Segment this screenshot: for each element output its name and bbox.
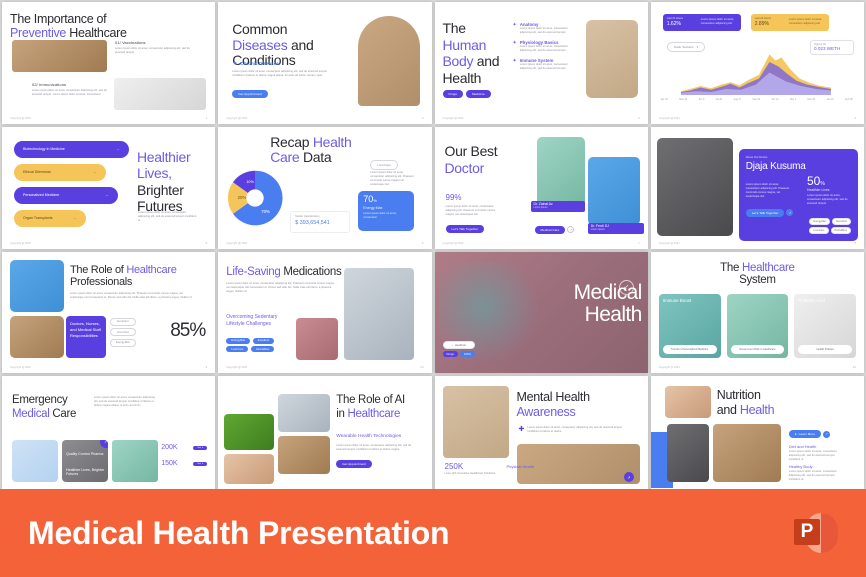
slide-image <box>443 386 509 458</box>
stat-value: 85% <box>170 320 205 342</box>
slide-healthcare-system[interactable]: The Healthcare System Immune Boost Trend… <box>651 252 864 374</box>
slide-number: 5 <box>206 241 208 245</box>
stat-body: Lorem ipsum dolor sit amet, consectetur <box>363 212 409 220</box>
stat-value: 50 <box>807 174 820 188</box>
card-label: Immune Boost <box>663 298 691 304</box>
donut-chart: 70% 20% 10% <box>224 167 286 229</box>
ppt-letter: P <box>794 519 820 545</box>
card-label: Probiotic Acid <box>798 298 825 304</box>
slide-doctor-profile[interactable]: About Our Doctor Djaja Kusuma Lorem ipsu… <box>651 127 864 249</box>
slide-footer-note: Copyright @ 2024 <box>10 366 31 369</box>
slide-healthcare-professionals[interactable]: The Role of Healthcare Professionals Lor… <box>2 252 215 374</box>
tag[interactable]: LiverCare <box>226 346 248 352</box>
item-body: Lorem ipsum dolor sit amet, consectetur … <box>789 470 847 482</box>
slide-number: 7 <box>638 241 640 245</box>
card-caption[interactable]: Government Role in Healthcare <box>731 345 785 354</box>
slide-mental-health-awareness[interactable]: Mental Health Awareness ✚ Lorem ipsum do… <box>435 376 648 498</box>
tag[interactable]: HerbalMax <box>251 346 274 352</box>
item-label: 02/ Immunizations <box>32 82 110 87</box>
stat-card-amber: Last 24 Hours 2.89% Lorem ipsum dolor si… <box>751 14 829 31</box>
arrow-left-icon: ← <box>105 193 109 197</box>
dot-icon: ● <box>795 432 797 436</box>
cta-button[interactable]: Let's Talk Together <box>746 209 785 217</box>
body-text: Lorem ipsum dolor sit amet, consectetur … <box>336 444 420 452</box>
slide-footer-note: Copyright @ 2024 <box>443 242 464 245</box>
body-text: Lorem ipsum dolor sit amet, consectetur … <box>94 396 156 408</box>
banner-title: Medical Health Presentation <box>28 515 449 552</box>
stat-value: 150K <box>161 460 177 467</box>
stat-card-violet: Last 24 Hours 1.62% Lorem ipsum dolor si… <box>663 14 741 31</box>
arrow-left-icon: ← <box>93 170 97 174</box>
arrow-left-icon: ← <box>73 216 77 220</box>
chevron-down-icon: ▾ <box>697 45 699 49</box>
tag[interactable]: Excellent <box>832 218 851 225</box>
stat-body: Lorem ipsum dolor sit amet, consectetur … <box>807 194 851 206</box>
page-title: The Importance of Preventive Healthcare <box>10 12 207 40</box>
doctor-photo-2 <box>588 157 640 225</box>
list-item: ✦ Anatomy Lorem ipsum dolor sit amet, co… <box>513 22 575 35</box>
body-text: Lorem ipsum dolor sit amet, consectetur … <box>370 171 414 187</box>
title-banner: Medical Health Presentation P <box>0 489 866 577</box>
card-caption[interactable]: Trends in Personalized Medicine <box>663 345 717 354</box>
plus-icon: ✚ <box>519 426 525 434</box>
learn-more-button[interactable]: ●Learn More <box>789 430 821 438</box>
slide-image <box>296 318 338 360</box>
slide-image <box>10 260 64 312</box>
slide-image <box>278 394 330 432</box>
slide-number: 2 <box>422 116 424 120</box>
slide-footer-note: Copyright @ 2024 <box>10 242 31 245</box>
stat-label: Healthier Lives <box>807 188 851 192</box>
slide-footer-note: Copyright @ 2024 <box>226 366 247 369</box>
page-title: Nutrition and Health <box>717 388 827 418</box>
slide-number: 8 <box>854 241 856 245</box>
arrow-down-left-icon[interactable]: ↙ <box>619 280 634 295</box>
page-title: Recap Health Care Data <box>270 135 380 166</box>
slide-image <box>224 414 274 450</box>
body-text: Lorem ipsum dolor sit amet, consectetur … <box>446 205 504 217</box>
dot-icon: ● <box>451 344 453 347</box>
system-card-1[interactable]: Immune Boost Trends in Personalized Medi… <box>659 294 721 358</box>
page-title: The Role of AI in Healthcare <box>336 394 422 422</box>
doctor-photo-1 <box>537 137 585 209</box>
diamond-icon: ✦ <box>513 22 517 35</box>
slide-our-best-doctor[interactable]: Our Best Doctor 99% Lorem ipsum dolor si… <box>435 127 648 249</box>
stat-body: Lives with Innovative Healthcare Solutio… <box>445 472 501 476</box>
slide-common-diseases[interactable]: Common Diseases and Conditions ✦ Chronic… <box>218 2 431 124</box>
slide-preventive-healthcare[interactable]: The Importance of Preventive Healthcare … <box>2 2 215 124</box>
slide-image <box>667 424 709 482</box>
list-item: ✦ Immune System Lorem ipsum dolor sit am… <box>513 58 575 71</box>
slide-footer-note: Copyright @ 2024 <box>226 117 247 120</box>
doctor-role: Lorem Ipsum <box>534 206 582 209</box>
slide-image <box>224 454 274 484</box>
arrow-right-icon[interactable]: ↗ <box>567 226 574 233</box>
x-axis-labels: Apr 01 May 18 Jun 3 Jul 20 Aug 17 Sep 02… <box>661 98 853 101</box>
plus-icon: ✦ <box>232 60 237 67</box>
card-label: Market Capitalization <box>295 215 345 218</box>
slide-number: 9 <box>206 365 208 369</box>
body-text: Lorem ipsum dolor sit amet, consectetur … <box>232 70 332 78</box>
tag[interactable]: EnergyMax <box>809 218 830 225</box>
slide-image <box>713 424 781 482</box>
responsibilities-card: Doctors, Nurses, and Medical Staff Respo… <box>66 316 106 358</box>
doctor-info-panel: About Our Doctor Djaja Kusuma Lorem ipsu… <box>739 149 858 241</box>
area-chart <box>661 50 851 95</box>
slide-image <box>665 386 711 418</box>
body-text: Lorem ipsum dolor sit amet, consectetur … <box>226 282 338 294</box>
page-title: Our Best Doctor <box>445 143 535 177</box>
body-text: Lorem ipsum dolor sit amet, consectetur … <box>527 426 628 434</box>
doctor-card-1: Dr. Zainal Az Lorem Ipsum <box>531 201 585 212</box>
slide-number: 3 <box>638 116 640 120</box>
item-body: Lorem ipsum dolor sit amet, consectetur … <box>789 450 847 462</box>
button-personalized-medicine[interactable]: Personalized Medicine← <box>14 187 118 204</box>
slide-footer-note: Copyright @ 2024 <box>443 117 464 120</box>
card-caption[interactable]: Health Policies <box>798 345 852 354</box>
tag[interactable]: LiverCare <box>110 328 136 336</box>
slide-thumbnail-grid: The Importance of Preventive Healthcare … <box>0 0 866 500</box>
subtitle: Wearable Health Technologies <box>336 434 422 439</box>
button-ethical-dilemmas[interactable]: Ethical Dilemmas← <box>14 164 106 181</box>
tag[interactable]: EnergyMax <box>226 338 250 344</box>
cta-button[interactable]: Get Appointment <box>336 460 372 468</box>
arrow-left-icon: ← <box>116 147 120 151</box>
slide-image <box>112 440 158 482</box>
tag[interactable]: Get It <box>193 462 207 466</box>
eyebrow: About Our Doctor <box>746 155 851 159</box>
slide-market-chart[interactable]: Last 24 Hours 1.62% Lorem ipsum dolor si… <box>651 2 864 124</box>
tag-drugs[interactable]: Drugs <box>443 90 464 98</box>
slide-medical-health-cover[interactable]: Medical Health ↙ ●Healthier Drugs 100% <box>435 252 648 374</box>
slide-image <box>278 436 330 474</box>
livercare-chip[interactable]: LiverCare <box>370 160 398 170</box>
slide-footer-note: Copyright @ 2024 <box>659 117 680 120</box>
page-title: Healthier Lives, Brighter Futures <box>137 149 207 215</box>
doctor-role: Lorem Ipsum <box>591 228 641 231</box>
svg-text:20%: 20% <box>238 195 247 200</box>
page-title: The Role of Healthcare Professionals <box>70 264 200 289</box>
slide-footer-note: Copyright @ 2024 <box>10 117 31 120</box>
slide-life-saving-medications[interactable]: Life-Saving Medications Lorem ipsum dolo… <box>218 252 431 374</box>
stat-value: 250K <box>445 462 501 471</box>
arrow-up-right-icon[interactable]: ↗ <box>624 472 634 482</box>
diamond-icon: ✦ <box>513 40 517 53</box>
tag[interactable]: HerbalMax <box>831 227 851 234</box>
bullet-label: Chronic Diseases <box>240 61 279 66</box>
tag-medicine[interactable]: Medicine <box>466 90 491 98</box>
stat-card-blue: 70% Energy Max Lorem ipsum dolor sit ame… <box>358 191 414 231</box>
tag[interactable]: Drugs <box>443 351 458 357</box>
button-organ-transplants[interactable]: Organ Transplants← <box>14 210 86 227</box>
medical-care-chip[interactable]: Medical Care <box>535 226 566 234</box>
doctor-name: Djaja Kusuma <box>746 161 851 172</box>
item-label: 01/ Vaccinations <box>115 40 193 45</box>
page-title: Life-Saving Medications <box>226 266 346 279</box>
card-value: $ 393,654,541 <box>295 220 345 226</box>
diamond-icon: ✦ <box>513 58 517 71</box>
page-title: Emergency Medical Care <box>12 394 92 422</box>
item-body: Lorem ipsum dolor sit amet, consectetur … <box>520 45 575 53</box>
tag[interactable]: Get It <box>193 446 207 450</box>
tag[interactable]: LiverCare <box>809 227 828 234</box>
tag[interactable]: Excellent <box>253 338 274 344</box>
body-text: Lorem ipsum dolor sit amet, consectetur … <box>138 211 198 223</box>
slide-footer-note: Copyright @ 2024 <box>659 242 680 245</box>
tag[interactable]: EnergyMax <box>110 339 136 347</box>
slide-human-body-health[interactable]: The Human Body and Health Drugs Medicine… <box>435 2 648 124</box>
tag[interactable]: 100% <box>460 351 475 357</box>
svg-text:70%: 70% <box>261 209 270 214</box>
slide-footer-note: Copyright @ 2024 <box>226 242 247 245</box>
page-title: The Human Body and Health <box>443 20 523 86</box>
tag[interactable]: Excellent <box>110 318 136 326</box>
doctor-photo <box>657 138 733 236</box>
slide-healthier-lives[interactable]: Biotechnology in Medicine← Ethical Dilem… <box>2 127 215 249</box>
stat-label: Physical Health <box>507 464 537 470</box>
item-label: Diet and Health <box>789 444 847 449</box>
item-body: Lorem ipsum dolor sit amet, consectetur … <box>32 89 110 97</box>
body-text: Lorem ipsum dolor sit amet, consectetur … <box>746 183 794 199</box>
system-card-2[interactable]: Government Role in Healthcare <box>727 294 789 358</box>
slide-image <box>12 40 107 72</box>
slide-image <box>10 316 64 358</box>
slide-image <box>344 268 414 360</box>
slide-number: 1 <box>206 116 208 120</box>
body-text: Lorem ipsum dolor sit amet, consectetur … <box>70 292 196 300</box>
slide-number: 6 <box>422 241 424 245</box>
market-cap-card: Market Capitalization $ 393,654,541 <box>290 211 350 233</box>
button-biotechnology[interactable]: Biotechnology in Medicine← <box>14 141 129 158</box>
stat-label: Energy Max <box>363 206 409 210</box>
slide-image <box>114 78 206 110</box>
slide-emergency-medical-care[interactable]: Emergency Medical Care Lorem ipsum dolor… <box>2 376 215 498</box>
card-body: Lorem ipsum dolor sit amet, consectetur … <box>789 18 825 26</box>
item-body: Lorem ipsum dolor sit amet, consectetur … <box>520 63 575 71</box>
arrow-right-icon[interactable]: ↗ <box>823 431 830 438</box>
cta-button[interactable]: Get Appointment <box>232 90 268 98</box>
item-body: Lorem ipsum dolor sit amet, consectetur … <box>520 27 575 35</box>
slide-number: 4 <box>854 116 856 120</box>
slide-image <box>12 440 58 482</box>
slide-number: 12 <box>853 365 856 369</box>
ppt-disc-front <box>821 513 838 553</box>
system-card-3[interactable]: Probiotic Acid Health Policies <box>794 294 856 358</box>
overlay-label-1: Quality Control Pharma <box>66 452 103 457</box>
doctor-card-2: Dr. Ferdi DJ Lorem Ipsum <box>588 223 644 234</box>
powerpoint-icon: P <box>794 511 838 555</box>
list-item: ✦ Physiology Basics Lorem ipsum dolor si… <box>513 40 575 53</box>
card-body: Lorem ipsum dolor sit amet, consectetur … <box>701 18 737 26</box>
slide-image <box>358 16 420 106</box>
stat-value: 200K <box>161 444 177 451</box>
page-title: The Healthcare System <box>651 262 864 288</box>
arrow-right-icon[interactable]: ↗ <box>786 209 793 216</box>
subtitle: Overcoming Sedentary Lifestyle Challenge… <box>226 314 282 329</box>
slide-number: 10 <box>420 365 423 369</box>
page-title: Mental Health Awareness <box>517 390 633 420</box>
arrow-up-right-icon[interactable]: ↗ <box>100 440 108 448</box>
item-body: Lorem ipsum dolor sit amet, consectetur … <box>115 47 193 55</box>
slide-footer-note: Copyright @ 2024 <box>659 366 680 369</box>
slide-image <box>586 20 638 98</box>
overlay-label-2: Healthier Lives, Brighter Futures <box>66 468 108 478</box>
item-label: Healthy Body <box>789 464 847 469</box>
slide-image-overlay: Quality Control Pharma Healthier Lives, … <box>62 440 108 482</box>
slide-recap-health-care-data[interactable]: Recap Health Care Data 70% 20% 10% Marke… <box>218 127 431 249</box>
svg-text:10%: 10% <box>247 180 255 184</box>
slide-nutrition-and-health[interactable]: Nutrition and Health ●Learn More ↗ Diet … <box>651 376 864 498</box>
stat-value: 99% <box>446 193 462 202</box>
cta-button[interactable]: Let's Talk Together <box>446 225 485 233</box>
slide-role-of-ai-healthcare[interactable]: The Role of AI in Healthcare Wearable He… <box>218 376 431 498</box>
